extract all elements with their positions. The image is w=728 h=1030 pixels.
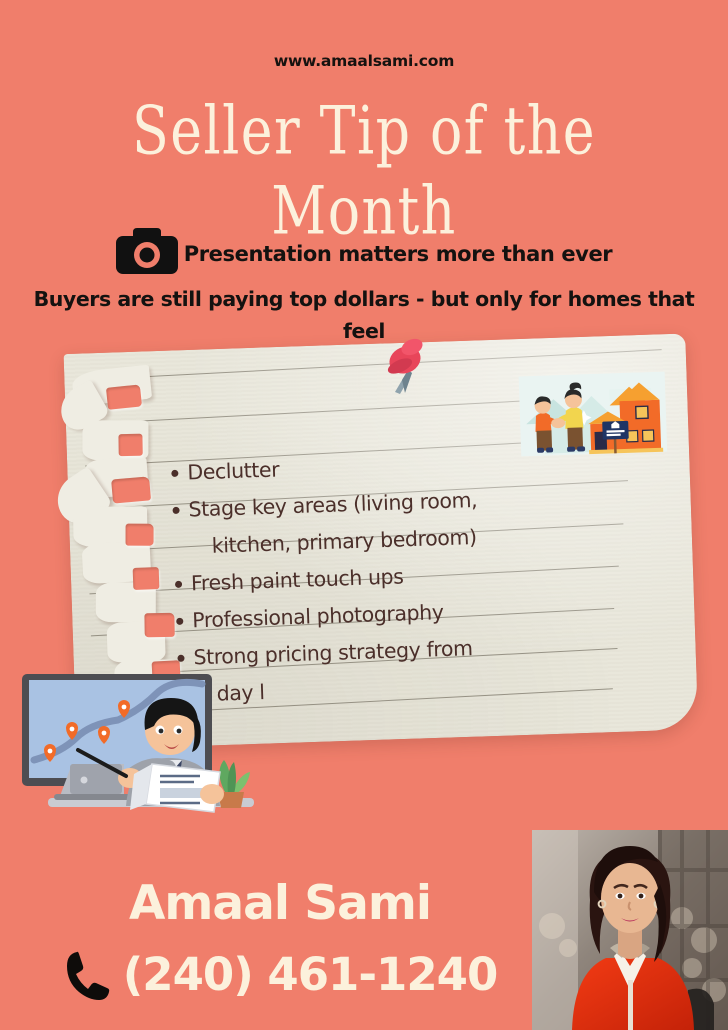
bullet-dot-icon: [172, 507, 179, 514]
torn-paper-hole: [111, 476, 151, 503]
bullet-dot-icon: [175, 581, 182, 588]
bullet-dot-icon: [176, 618, 183, 625]
phone-number: (240) 461-1240: [123, 948, 498, 1001]
page-title-line-1: Seller Tip of the: [15, 92, 714, 172]
handshake-sold-house-illustration: [513, 369, 674, 462]
torn-paper-hole: [126, 524, 154, 546]
tagline-row: Presentation matters more than ever: [0, 228, 728, 279]
bullet-dot-icon: [177, 655, 184, 662]
torn-paper-hole: [106, 384, 142, 409]
list-item-label: Fresh paint touch ups: [190, 560, 404, 600]
torn-paper-hole: [118, 434, 142, 456]
list-item-label: Professional photography: [192, 596, 444, 637]
presenter-chart-illustration: [14, 668, 282, 820]
torn-paper-hole: [133, 567, 160, 590]
poster-canvas: www.amaalsami.com Seller Tip of the Mont…: [0, 0, 728, 1030]
agent-headshot: [532, 830, 728, 1030]
list-item-label: kitchen, primary bedroom): [211, 521, 477, 563]
camera-icon: [116, 228, 178, 279]
phone-row[interactable]: (240) 461-1240: [0, 944, 560, 1005]
agent-name: Amaal Sami: [0, 876, 560, 931]
website-url: www.amaalsami.com: [0, 52, 728, 70]
phone-icon: [63, 944, 119, 1005]
push-pin-icon: [378, 336, 434, 408]
list-item-label: Declutter: [187, 453, 280, 489]
bullet-dot-icon: [171, 470, 178, 477]
tagline-text: Presentation matters more than ever: [184, 242, 613, 266]
list-item-label: Stage key areas (living room,: [188, 484, 478, 527]
torn-paper-hole: [144, 613, 174, 637]
